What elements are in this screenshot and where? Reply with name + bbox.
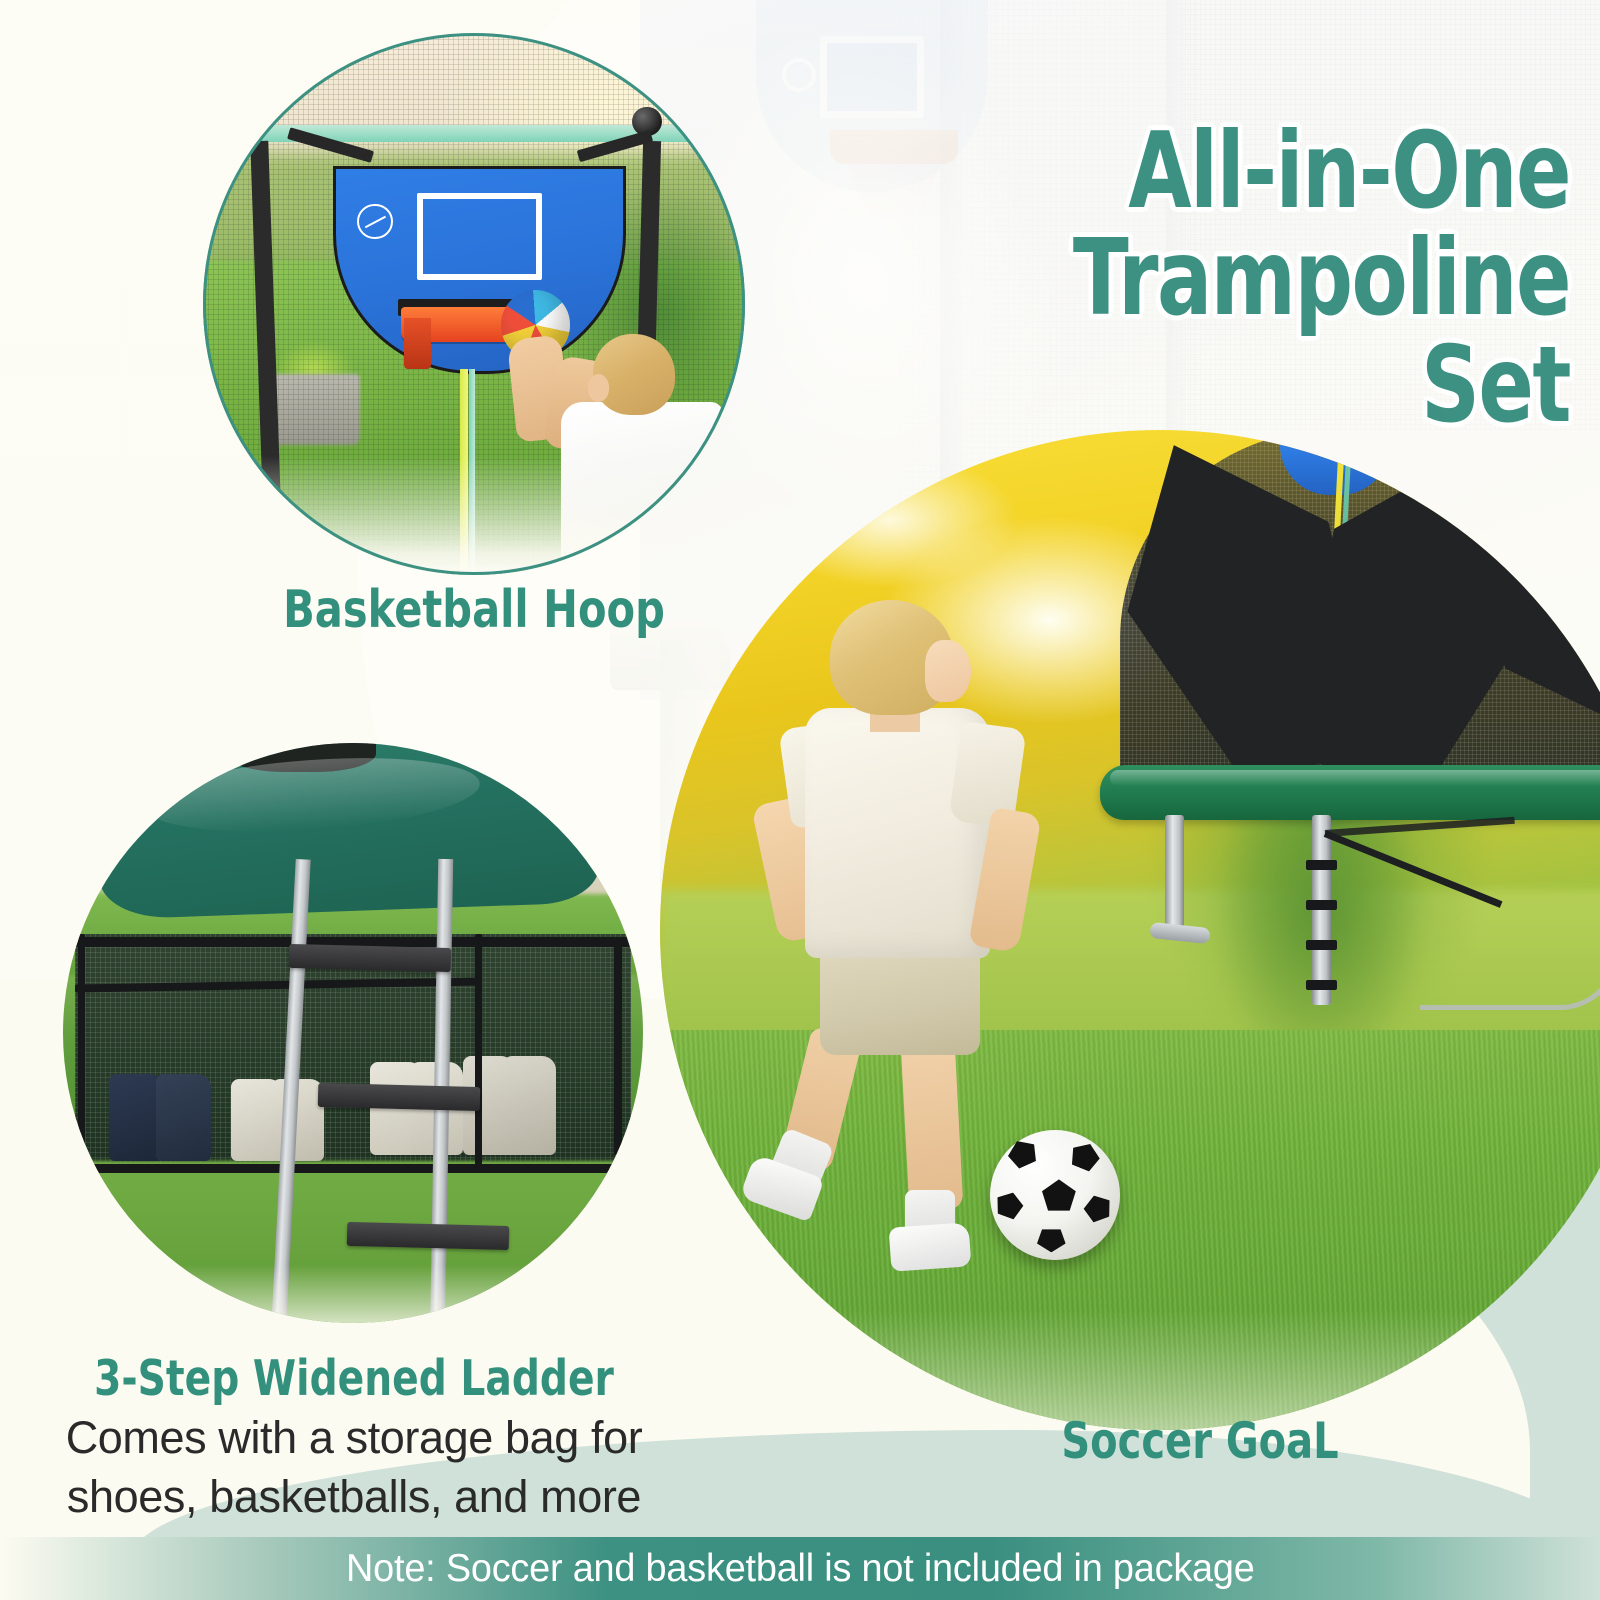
soccer-ball: [990, 1130, 1120, 1260]
ladder-step-1: [289, 944, 452, 973]
product-feature-poster: All-in-One Trampoline Set Basketball Hoo…: [0, 0, 1600, 1600]
soccer-child-leg-right: [901, 1039, 964, 1212]
trampoline-pole-clamp-3: [1306, 940, 1337, 950]
soccer-child-shoe-right: [889, 1222, 972, 1271]
trampoline-safety-pad-highlight: [1110, 770, 1600, 786]
ladder-bottom-fade: [63, 1265, 643, 1323]
soccer-ball-panel: [990, 1187, 1026, 1223]
caption-ladder: 3-Step Widened Ladder: [90, 1350, 618, 1407]
soccer-ball-panel: [1042, 1179, 1076, 1210]
soccer-child-face: [925, 640, 971, 702]
ladder-step-2: [318, 1083, 481, 1112]
caption-basketball-hoop: Basketball Hoop: [218, 580, 730, 640]
caption-soccer-goal: Soccer GoaL: [944, 1412, 1456, 1470]
trampoline-leg-1: [1165, 815, 1184, 935]
title-line-2: Trampoline Set: [954, 225, 1570, 439]
page-title: All-in-One Trampoline Set: [954, 118, 1570, 439]
ladder-sneaker-6: [504, 1056, 556, 1155]
trampoline-leg-2: [1312, 815, 1331, 1005]
hoop-rim-bracket: [404, 318, 431, 369]
note-banner: Note: Soccer and basketball is not inclu…: [0, 1537, 1600, 1600]
soccer-ball-panel: [1081, 1190, 1117, 1226]
trampoline-pole-clamp-1: [1306, 860, 1337, 870]
ladder-bag-trim-left: [78, 934, 86, 1166]
soccer-ball-panel: [1037, 1229, 1066, 1252]
trampoline-pole-clamp-2: [1306, 900, 1337, 910]
title-line-1: All-in-One: [1128, 110, 1570, 232]
note-text: Note: Soccer and basketball is not inclu…: [346, 1547, 1255, 1591]
feature-image-ladder: [63, 743, 643, 1323]
trampoline-leg-arc: [1420, 870, 1600, 1010]
ladder-bag-trim-center: [475, 934, 483, 1166]
ladder-bag-trim-bottom: [75, 1164, 632, 1173]
ladder-description: Comes with a storage bag for shoes, bask…: [20, 1408, 688, 1527]
hoop-child-head: [593, 334, 674, 415]
trampoline-pole-clamp-4: [1306, 980, 1337, 990]
hoop-backboard-target-square: [417, 193, 542, 280]
hoop-child-ear: [588, 374, 610, 401]
ladder-shoe-navy-right: [156, 1074, 211, 1161]
hoop-top-rail: [203, 125, 745, 142]
feature-image-soccer-goal: [660, 430, 1600, 1430]
ladder-bag-trim-right: [614, 946, 622, 1155]
